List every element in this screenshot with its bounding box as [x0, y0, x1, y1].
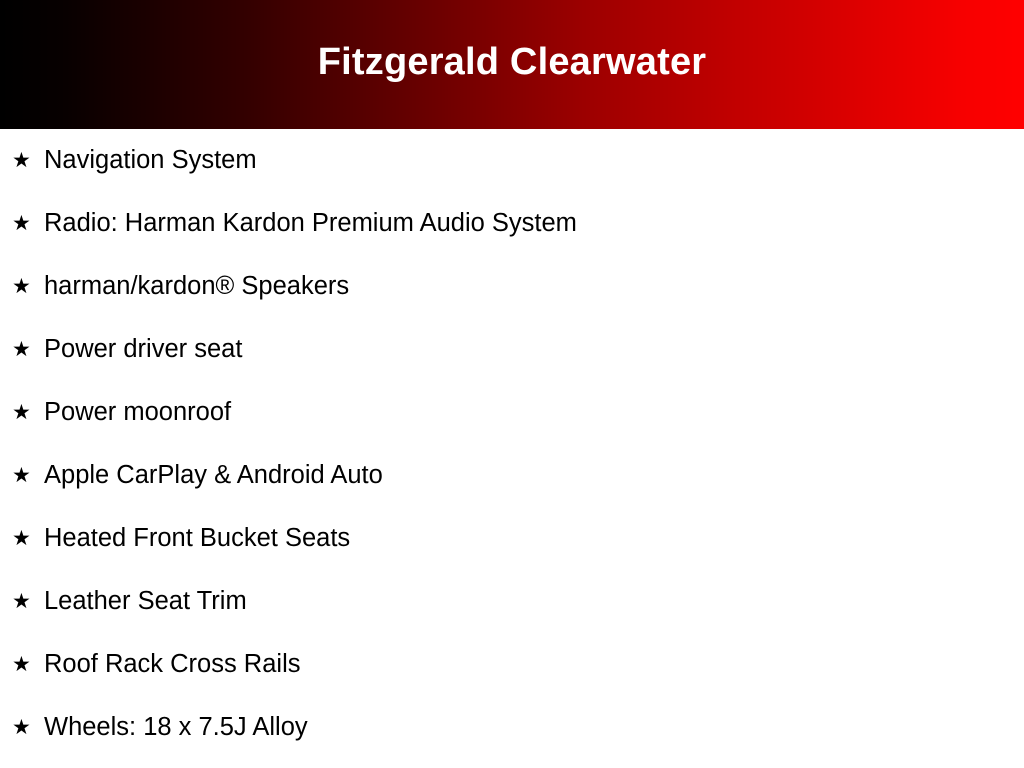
feature-label: Heated Front Bucket Seats: [44, 524, 350, 553]
feature-list: ★ Navigation System ★ Radio: Harman Kard…: [0, 129, 1024, 768]
list-item: ★ Heated Front Bucket Seats: [0, 507, 1024, 570]
list-item: ★ Leather Seat Trim: [0, 570, 1024, 633]
star-bullet-icon: ★: [12, 591, 44, 612]
star-bullet-icon: ★: [12, 150, 44, 171]
feature-label: Leather Seat Trim: [44, 587, 247, 616]
list-item: ★ harman/kardon® Speakers: [0, 255, 1024, 318]
feature-label: Power moonroof: [44, 398, 231, 427]
star-bullet-icon: ★: [12, 717, 44, 738]
feature-label: Radio: Harman Kardon Premium Audio Syste…: [44, 209, 577, 238]
star-bullet-icon: ★: [12, 465, 44, 486]
vehicle-features-slide: Fitzgerald Clearwater ★ Navigation Syste…: [0, 0, 1024, 768]
feature-label: harman/kardon® Speakers: [44, 272, 349, 301]
list-item: ★ Wheels: 18 x 7.5J Alloy: [0, 696, 1024, 759]
list-item: ★ Power moonroof: [0, 381, 1024, 444]
header-banner: Fitzgerald Clearwater: [0, 0, 1024, 129]
star-bullet-icon: ★: [12, 654, 44, 675]
list-item: ★ Apple CarPlay & Android Auto: [0, 444, 1024, 507]
feature-label: Roof Rack Cross Rails: [44, 650, 300, 679]
list-item: ★ Radio: Harman Kardon Premium Audio Sys…: [0, 192, 1024, 255]
feature-label: Wheels: 18 x 7.5J Alloy: [44, 713, 308, 742]
feature-label: Navigation System: [44, 146, 257, 175]
page-title: Fitzgerald Clearwater: [0, 0, 1024, 129]
star-bullet-icon: ★: [12, 213, 44, 234]
list-item: ★ Navigation System: [0, 129, 1024, 192]
star-bullet-icon: ★: [12, 276, 44, 297]
list-item: ★ Power driver seat: [0, 318, 1024, 381]
feature-label: Apple CarPlay & Android Auto: [44, 461, 383, 490]
star-bullet-icon: ★: [12, 528, 44, 549]
feature-label: Power driver seat: [44, 335, 242, 364]
star-bullet-icon: ★: [12, 339, 44, 360]
star-bullet-icon: ★: [12, 402, 44, 423]
list-item: ★ Roof Rack Cross Rails: [0, 633, 1024, 696]
